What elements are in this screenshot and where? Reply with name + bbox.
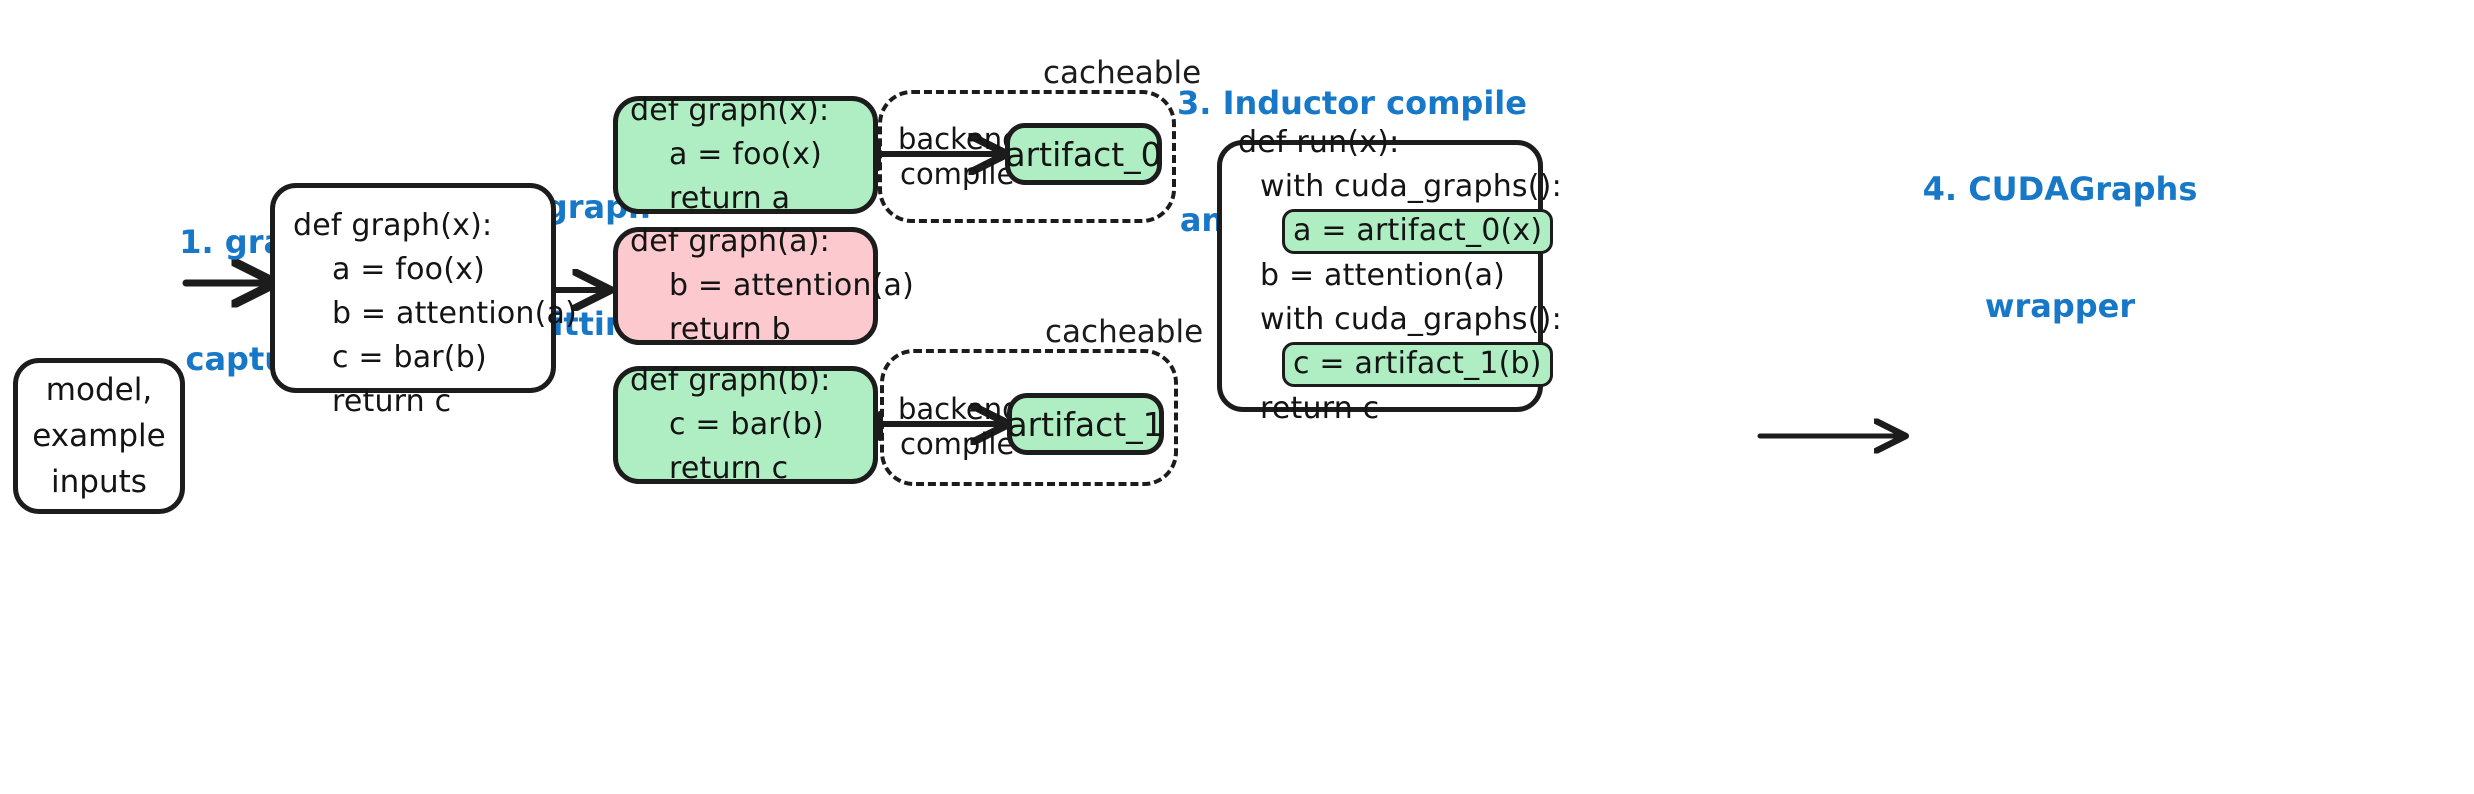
subgraph-1-line-3: return c — [630, 447, 873, 491]
input-node-line-1: model, — [18, 367, 180, 413]
cacheable-label-1: cacheable — [1045, 314, 1203, 350]
subgraph-attn-line-3: return b — [630, 308, 873, 352]
subgraph-0-line-2: a = foo(x) — [630, 133, 873, 177]
runtime-line-3: a = artifact_0(x) — [1282, 209, 1553, 254]
runtime-line-6: c = artifact_1(b) — [1282, 342, 1553, 387]
backend-label-0: backend — [898, 122, 1021, 156]
backend-label-1: backend — [898, 392, 1021, 426]
subgraph-1-line-2: c = bar(b) — [630, 403, 873, 447]
step-label-4-line2: wrapper — [1895, 287, 2225, 326]
captured-graph-line-3: b = attention(a) — [293, 292, 551, 336]
captured-graph-line-5: return c — [293, 380, 551, 424]
artifact-box-0[interactable]: artifact_0 — [1005, 123, 1162, 185]
input-node[interactable]: model, example inputs — [13, 358, 185, 514]
cacheable-label-0: cacheable — [1043, 55, 1201, 91]
subgraph-0-line-1: def graph(x): — [630, 89, 873, 133]
diagram-canvas: 1. graph capture 2. graph splitting 3. I… — [0, 0, 2474, 794]
runtime-line-4: b = attention(a) — [1238, 254, 1538, 298]
step-label-3-line1: 3. Inductor compile — [1157, 84, 1547, 123]
runtime-line-3-wrap: a = artifact_0(x) — [1238, 209, 1538, 254]
subgraph-node-0[interactable]: def graph(x): a = foo(x) return a — [613, 96, 878, 214]
subgraph-1-line-1: def graph(b): — [630, 359, 873, 403]
artifact-box-1[interactable]: artifact_1 — [1007, 393, 1164, 455]
subgraph-node-attention[interactable]: def graph(a): b = attention(a) return b — [613, 227, 878, 345]
subgraph-0-line-3: return a — [630, 177, 873, 221]
compile-label-0: compile — [900, 157, 1014, 191]
captured-graph-line-4: c = bar(b) — [293, 336, 551, 380]
runtime-line-7: return c — [1238, 387, 1538, 431]
captured-graph-line-2: a = foo(x) — [293, 248, 551, 292]
step-label-4: 4. CUDAGraphs wrapper — [1895, 92, 2225, 404]
subgraph-attn-line-2: b = attention(a) — [630, 264, 873, 308]
input-node-line-3: inputs — [18, 459, 180, 505]
input-node-line-2: example — [18, 413, 180, 459]
runtime-line-6-wrap: c = artifact_1(b) — [1238, 342, 1538, 387]
runtime-wrapper-node[interactable]: def run(x): with cuda_graphs(): a = arti… — [1217, 140, 1543, 412]
captured-graph-node[interactable]: def graph(x): a = foo(x) b = attention(a… — [270, 183, 556, 393]
compile-label-1: compile — [900, 427, 1014, 461]
step-label-4-line1: 4. CUDAGraphs — [1895, 170, 2225, 209]
captured-graph-line-1: def graph(x): — [293, 204, 551, 248]
subgraph-node-1[interactable]: def graph(b): c = bar(b) return c — [613, 366, 878, 484]
subgraph-attn-line-1: def graph(a): — [630, 220, 873, 264]
runtime-line-5: with cuda_graphs(): — [1238, 298, 1538, 342]
runtime-line-1: def run(x): — [1238, 121, 1538, 165]
runtime-line-2: with cuda_graphs(): — [1238, 165, 1538, 209]
